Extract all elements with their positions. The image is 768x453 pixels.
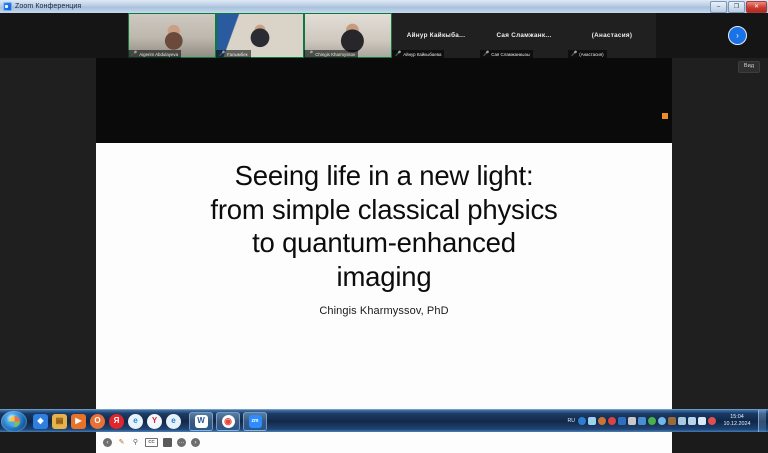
presentation-slide[interactable]: Seeing life in a new light: from simple … — [96, 143, 672, 453]
taskbar-button-zoom[interactable]: zm — [243, 412, 267, 431]
battery-icon[interactable] — [708, 417, 716, 425]
filmstrip-next-page-button[interactable]: › — [715, 13, 760, 58]
chevron-right-icon: › — [728, 26, 747, 45]
internet-explorer-icon[interactable]: e — [128, 414, 143, 429]
previous-icon[interactable]: ‹ — [103, 438, 112, 447]
taskbar-button-word[interactable]: W — [189, 412, 213, 431]
participant-name: Chingis Kharmyssov — [315, 52, 355, 57]
antivirus-icon[interactable] — [608, 417, 616, 425]
participant-tile[interactable]: 🎤 Chingis Kharmyssov — [304, 13, 392, 58]
slide-author: Chingis Kharmyssov, PhD — [96, 305, 672, 317]
participant-name: Айнур Кайкыбаева — [403, 52, 441, 57]
participant-tile[interactable]: (Анастасия) 🎤 (Анастасия) — [568, 13, 656, 58]
participant-name: Ғалымбек — [227, 52, 247, 57]
stage-right-gutter: Вид — [672, 58, 768, 410]
mic-muted-icon: 🎤 — [131, 52, 137, 57]
participant-name-badge: 🎤 Айнур Кайкыбаева — [392, 50, 444, 58]
taskbar-button-chrome[interactable]: ◉ — [216, 412, 240, 431]
flag-icon[interactable] — [678, 417, 686, 425]
sync-icon[interactable] — [588, 417, 596, 425]
system-tray[interactable]: RU 15:04 10.12.2024 — [568, 410, 768, 432]
slide-title: Seeing life in a new light: from simple … — [114, 159, 654, 293]
slide-title-line-4: imaging — [114, 260, 654, 294]
participant-name: Aigerim Abdulayeva — [139, 52, 178, 57]
participant-name: (Анастасия) — [579, 52, 603, 57]
monitor-icon[interactable] — [688, 417, 696, 425]
bluetooth-icon[interactable] — [618, 417, 626, 425]
clock-date: 10.12.2024 — [720, 421, 754, 428]
participant-tile[interactable]: Сая Сламжанк... 🎤 Сая Сламжанкызы — [480, 13, 568, 58]
maximize-button[interactable]: ❐ — [728, 1, 745, 13]
updates-icon[interactable] — [658, 417, 666, 425]
driver-icon[interactable] — [628, 417, 636, 425]
messenger-icon[interactable] — [648, 417, 656, 425]
windows-logo-icon — [9, 416, 20, 427]
chrome-icon: ◉ — [222, 415, 235, 428]
video-icon[interactable]: ▮ — [163, 438, 172, 447]
minimize-button[interactable]: – — [710, 1, 727, 13]
window-title: Zoom Конференция — [15, 3, 81, 10]
mic-muted-icon: 🎤 — [483, 52, 489, 57]
closed-caption-icon[interactable]: CC — [145, 438, 158, 447]
yandex-icon[interactable]: Y — [147, 414, 162, 429]
archive-icon[interactable] — [668, 417, 676, 425]
participant-name-badge: 🎤 (Анастасия) — [568, 50, 607, 58]
screen-share-marker — [662, 113, 668, 119]
participant-tile[interactable]: 🎤 Ғалымбек — [216, 13, 304, 58]
clock-time: 15:04 — [720, 414, 754, 421]
stage-left-gutter — [0, 58, 96, 410]
show-desktop-button[interactable] — [758, 410, 766, 432]
highlighter-icon[interactable]: ✎ — [117, 438, 126, 447]
media-player-icon[interactable]: ▶ — [71, 414, 86, 429]
window-title-bar[interactable]: Zoom Конференция – ❐ ✕ — [0, 0, 768, 14]
more-options-icon[interactable]: ··· — [177, 438, 186, 447]
volume-icon[interactable] — [698, 417, 706, 425]
language-indicator[interactable]: RU — [568, 418, 576, 424]
slide-title-line-2: from simple classical physics — [114, 193, 654, 227]
word-icon: W — [195, 415, 208, 428]
yandex-browser-icon[interactable]: Я — [109, 414, 124, 429]
opera-icon[interactable]: O — [90, 414, 105, 429]
participant-name-badge: 🎤 Ғалымбек — [216, 50, 251, 58]
slide-navigation-toolbar[interactable]: ‹ ✎ ⚲ CC ▮ ··· › — [100, 436, 203, 449]
mic-muted-icon: 🎤 — [307, 52, 313, 57]
zoom-icon — [3, 2, 12, 11]
participant-name-badge: 🎤 Aigerim Abdulayeva — [128, 50, 181, 58]
clock[interactable]: 15:04 10.12.2024 — [720, 414, 754, 429]
dropbox-icon[interactable]: ◆ — [33, 414, 48, 429]
participant-name: Сая Сламжанкызы — [491, 52, 530, 57]
mic-muted-icon: 🎤 — [395, 52, 401, 57]
start-button[interactable] — [1, 411, 27, 432]
zoom-meeting-window: Zoom Конференция – ❐ ✕ 🎤 Aigerim Abdulay… — [0, 0, 768, 410]
view-button[interactable]: Вид — [738, 61, 760, 73]
onedrive-icon[interactable] — [578, 417, 586, 425]
participant-tile[interactable]: 🎤 Aigerim Abdulayeva — [128, 13, 216, 58]
close-button[interactable]: ✕ — [746, 1, 767, 13]
participant-tile[interactable]: Айнур Кайкыба... 🎤 Айнур Кайкыбаева — [392, 13, 480, 58]
file-explorer-icon[interactable]: ▤ — [52, 414, 67, 429]
participant-name-badge: 🎤 Chingis Kharmyssov — [304, 50, 358, 58]
window-controls: – ❐ ✕ — [710, 1, 767, 13]
network-icon[interactable] — [598, 417, 606, 425]
zoom-icon[interactable]: ⚲ — [131, 438, 140, 447]
shared-screen-stage: Вид Seeing life in a new light: from sim… — [0, 58, 768, 410]
mic-muted-icon: 🎤 — [219, 52, 225, 57]
microsoft-edge-icon[interactable]: e — [166, 414, 181, 429]
display-icon[interactable] — [638, 417, 646, 425]
participant-name-badge: 🎤 Сая Сламжанкызы — [480, 50, 533, 58]
participant-filmstrip[interactable]: 🎤 Aigerim Abdulayeva 🎤 Ғалымбек 🎤 Chingi… — [0, 13, 768, 58]
slide-title-line-1: Seeing life in a new light: — [114, 159, 654, 193]
running-tasks[interactable]: W ◉ zm — [189, 412, 267, 431]
filmstrip-left-pad — [0, 13, 128, 58]
zoom-icon: zm — [249, 415, 262, 428]
mic-muted-icon: 🎤 — [571, 52, 577, 57]
quick-launch-bar[interactable]: ◆ ▤ ▶ O Я e Y e — [33, 414, 181, 429]
next-icon[interactable]: › — [191, 438, 200, 447]
slide-title-line-3: to quantum-enhanced — [114, 226, 654, 260]
windows-taskbar[interactable]: ◆ ▤ ▶ O Я e Y e W ◉ zm RU — [0, 409, 768, 432]
